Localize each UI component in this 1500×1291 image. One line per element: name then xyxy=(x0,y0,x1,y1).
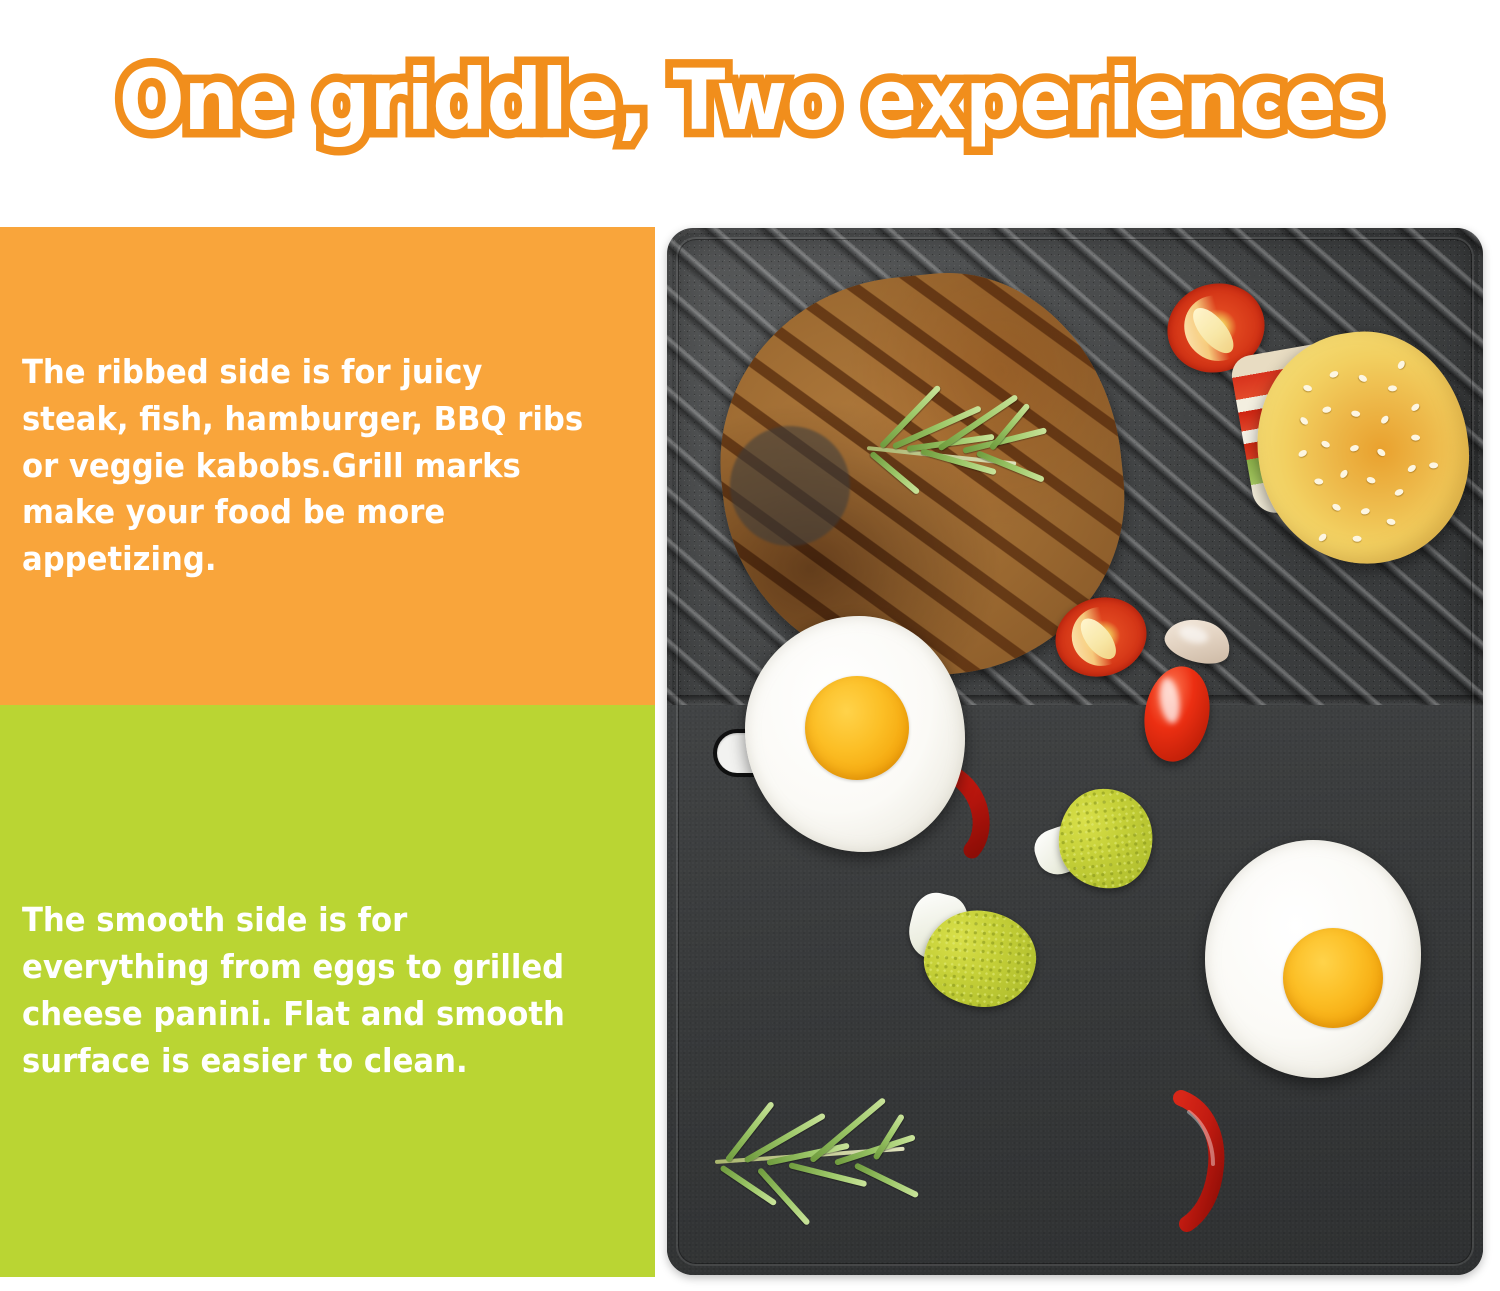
feature-text-smooth: The smooth side is for everything from e… xyxy=(22,897,590,1084)
broccoli-floret-lower xyxy=(899,877,1043,1012)
griddle-plate xyxy=(667,228,1483,1275)
egg-yolk xyxy=(805,676,909,780)
red-chili-lower xyxy=(1163,1090,1293,1230)
fried-egg-left xyxy=(745,616,965,852)
page-title: One griddle, Two experiences xyxy=(119,58,1381,142)
sesame-burger xyxy=(1242,318,1468,568)
feature-panel-smooth: The smooth side is for everything from e… xyxy=(0,705,655,1277)
fried-egg-right xyxy=(1205,840,1421,1078)
feature-text-ribbed: The ribbed side is for juicy steak, fish… xyxy=(22,349,590,583)
promo-image: One griddle, Two experiences The ribbed … xyxy=(0,0,1500,1291)
broccoli-floret-upper xyxy=(1027,782,1158,906)
feature-panel-ribbed: The ribbed side is for juicy steak, fish… xyxy=(0,227,655,705)
egg-yolk xyxy=(1283,928,1383,1028)
headline-band: One griddle, Two experiences xyxy=(0,0,1500,200)
